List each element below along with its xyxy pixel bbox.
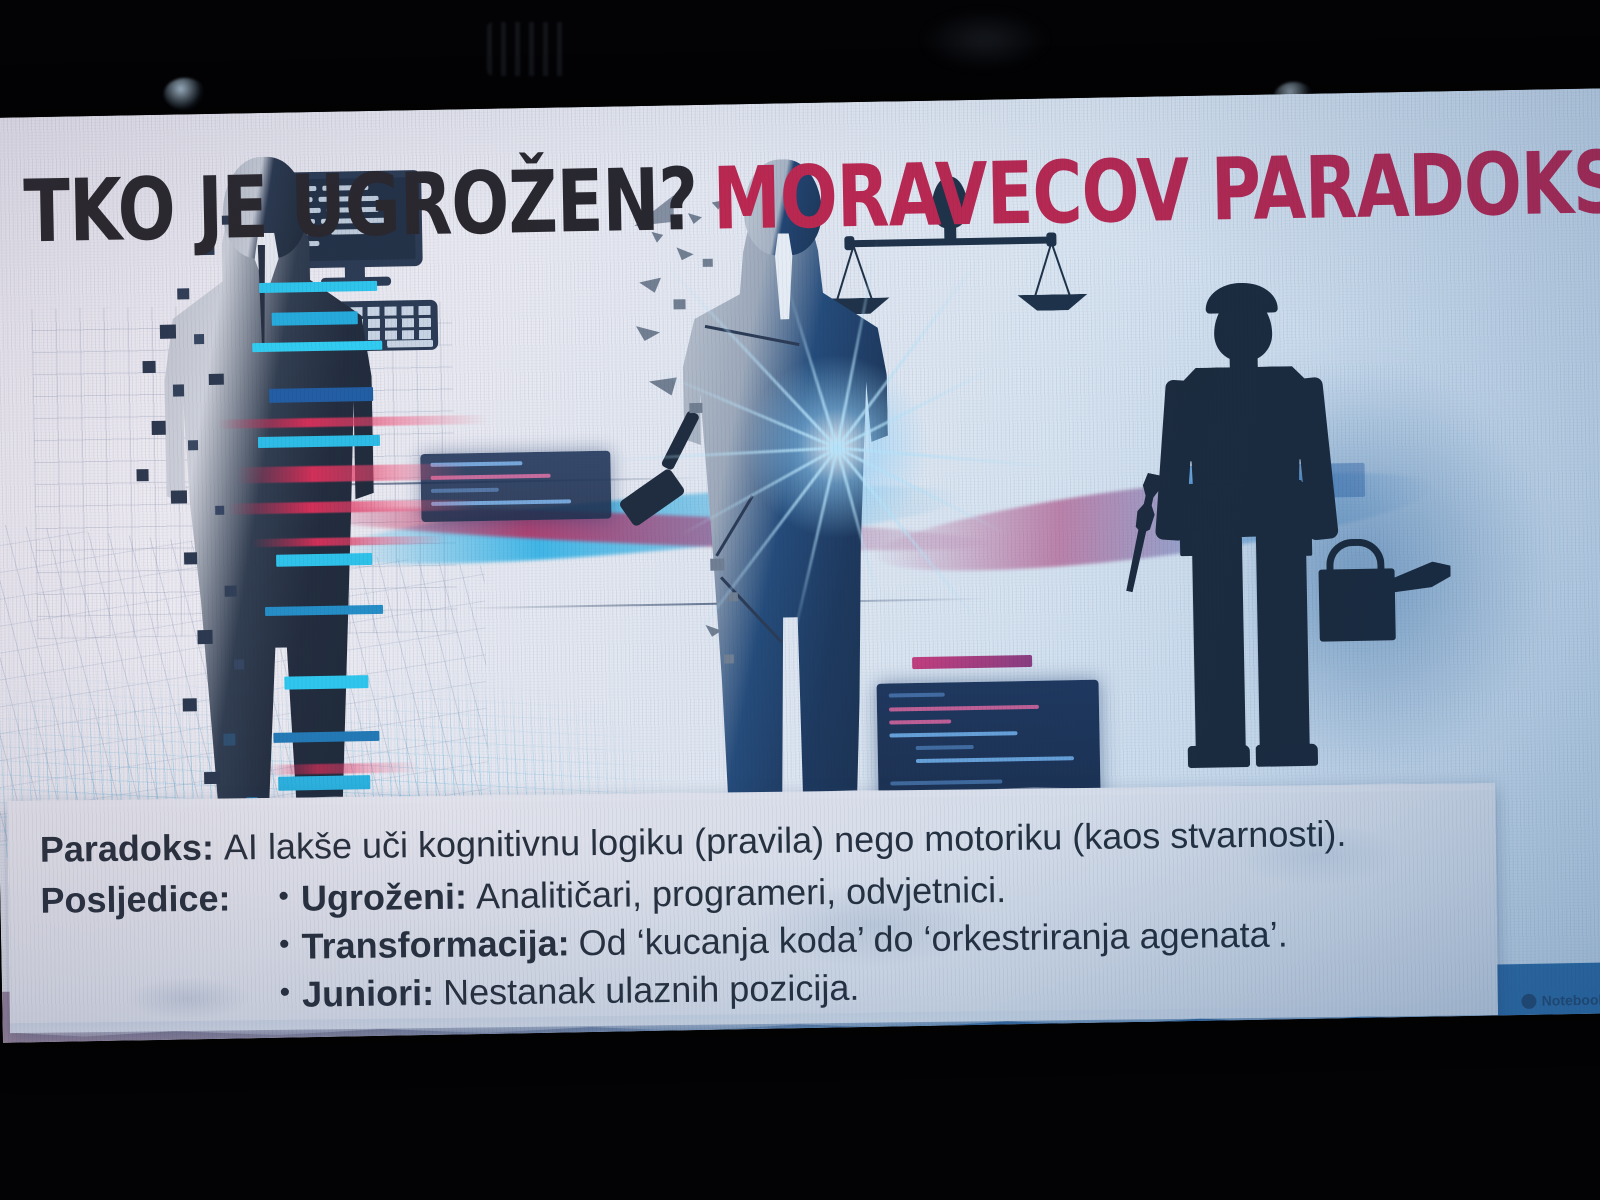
dissolve-pixel [215,506,224,515]
watermark-label: NotebookLM [1542,991,1600,1009]
bullet-text: Od ‘kucanja koda’ do ‘orkestriranja agen… [578,910,1288,967]
notebooklm-logo-icon [1522,993,1537,1008]
bullet-term: Ugroženi: [301,872,468,922]
dissolve-pixel [184,552,197,564]
notebooklm-watermark: NotebookLM [1522,991,1600,1009]
bullet-icon: • [279,970,290,1014]
dissolve-pixel [204,772,220,784]
worker-boot-left [1188,745,1250,768]
shard [727,592,738,601]
page-title: TKO JE UGROŽEN?MORAVECOV PARADOKS [23,140,1600,255]
shard [673,299,685,309]
worker-leg-right [1256,534,1310,755]
dissolve-pixel [223,734,235,746]
dissolve-pixel [225,585,237,596]
bullet-icon: • [278,875,289,919]
worker-boot-right [1256,744,1318,767]
dissolve-pixel [194,334,204,344]
red-glitch-slash [268,762,418,775]
worker-leg-left [1192,535,1246,756]
glitch-band [258,435,380,448]
title-question: TKO JE UGROŽEN? [23,150,698,262]
dissolve-pixel [177,288,189,299]
dissolve-pixel [183,698,197,711]
dissolve-pixel [209,374,224,385]
scales-chain [1034,242,1052,296]
bullet-icon: • [279,922,290,966]
bullet-text: Nestanak ulaznih pozicija. [443,963,860,1016]
presentation-slide: Paradoks: AI lakše uči kognitivnu logiku… [0,88,1600,1043]
glitch-band [265,605,383,616]
bullet-term: Juniori: [302,969,435,1018]
watering-can-icon [1314,537,1456,660]
gavel-head [618,467,686,527]
dissolve-pixel [160,325,176,339]
watering-can-spout [1386,561,1451,606]
glitch-band [259,281,377,293]
glitch-band [276,553,372,567]
bezel-vent [487,22,569,76]
dissolve-pixel [234,659,244,669]
bullet-text: Analitičari, programeri, odvjetnici. [476,866,1007,920]
belt-chisel [1293,480,1303,522]
glitch-band [284,675,368,690]
shard [710,559,724,571]
scales-chain [1051,242,1071,296]
dissolve-pixel [136,469,148,481]
red-glitch-slash [236,463,466,483]
photographed-screen: Paradoks: AI lakše uči kognitivnu logiku… [0,0,1600,1200]
title-highlight: MORAVECOV PARADOKS [712,133,1600,250]
paradox-label: Paradoks: [40,825,215,874]
shard [703,259,713,267]
dissolve-pixel [188,440,198,450]
slide-body-text: Paradoks: AI lakše uči kognitivnu logiku… [40,811,1358,1021]
shard [639,278,661,293]
shard [649,377,677,396]
gavel-handle [661,410,701,471]
glitch-band [269,387,373,403]
watering-can-handle [1326,538,1385,571]
consequences-row: Posljedice: • Ugroženi: Analitičari, pro… [40,862,1358,1022]
consequences-label: Posljedice: [40,875,279,925]
bullet-term: Transformacija: [301,919,570,970]
dissolve-pixel [171,490,187,503]
glitch-band [273,731,379,743]
dissolve-pixel [142,361,155,373]
belt-screwdriver [1193,484,1203,524]
shard [636,326,660,341]
paradox-text: AI lakše uči kognitivnu logiku (pravila)… [224,811,1347,872]
scales-pan-right [1017,294,1087,311]
dissolve-pixel [197,630,212,644]
bezel-smudge [920,10,1050,70]
consequences-bullet-list: • Ugroženi: Analitičari, programeri, odv… [278,862,1288,1018]
glitch-band [278,775,370,791]
watering-can-body [1319,568,1396,641]
shard [689,403,702,413]
dissolve-pixel [173,384,184,396]
text-slab: Paradoks: AI lakše uči kognitivnu logiku… [7,783,1498,1033]
dissolve-pixel [152,421,166,435]
shard [724,654,734,663]
figure-manual-worker [1129,279,1468,805]
glitch-band [272,311,358,326]
bezel-glint-left [164,78,206,110]
